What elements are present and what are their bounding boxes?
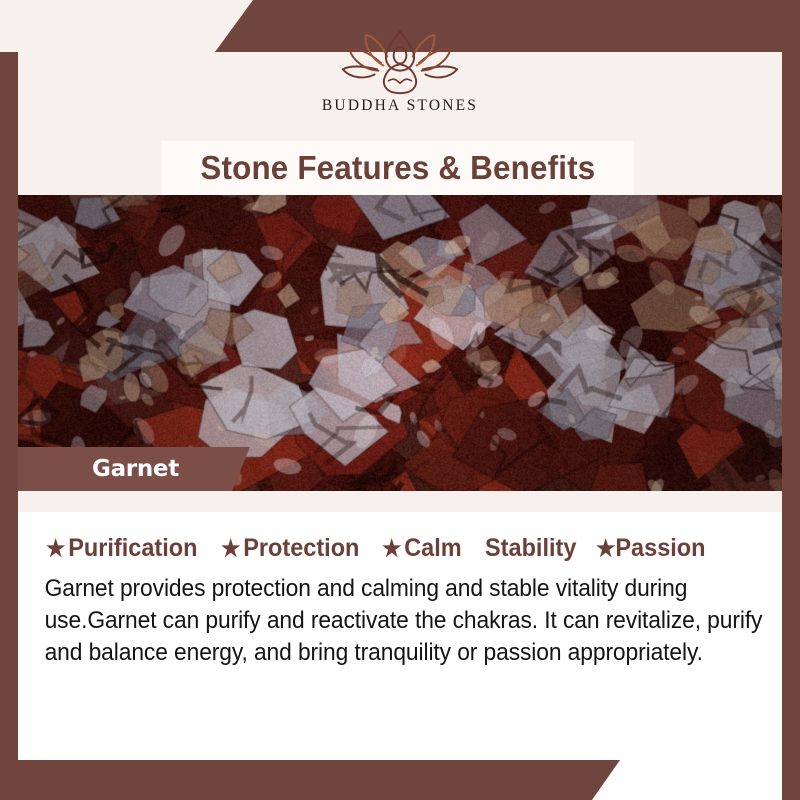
stone-hero-image: Garnet [0, 195, 800, 491]
page-title: Stone Features & Benefits [201, 149, 596, 187]
stone-description: Garnet provides protection and calming a… [18, 573, 800, 669]
lotus-meditation-icon [335, 30, 465, 96]
feature-label: Stability [485, 534, 576, 563]
brand-header: BUDDHA STONES [18, 52, 782, 138]
feature-passion: ★Passion [596, 534, 706, 563]
feature-stability: Stability [485, 534, 576, 563]
star-icon: ★ [46, 537, 65, 560]
star-icon: ★ [596, 537, 615, 560]
frame-top-right-accent [215, 0, 800, 52]
feature-label: Protection [243, 534, 359, 563]
garnet-photo-canvas [0, 195, 800, 491]
feature-calm: ★Calm [382, 534, 462, 563]
content-top-strip [18, 491, 782, 512]
star-icon: ★ [221, 537, 240, 560]
feature-label: Calm [405, 534, 462, 563]
feature-purification: ★Purification [46, 534, 197, 563]
frame-bottom-accent [0, 760, 620, 800]
feature-protection: ★Protection [221, 534, 359, 563]
brand-name: BUDDHA STONES [322, 97, 478, 115]
poster-root: BUDDHA STONES Stone Features & Benefits … [0, 0, 800, 800]
features-row: ★Purification★Protection★CalmStability★P… [18, 534, 782, 563]
stone-name-label: Garnet [18, 456, 179, 482]
feature-label: Passion [616, 534, 706, 563]
stone-name-banner: Garnet [18, 447, 250, 491]
title-band: Stone Features & Benefits [162, 141, 634, 195]
frame-right-border [782, 0, 800, 800]
benefits-card: ★Purification★Protection★CalmStability★P… [18, 512, 782, 760]
frame-left-border [0, 52, 18, 800]
star-icon: ★ [382, 537, 401, 560]
feature-label: Purification [68, 534, 197, 563]
